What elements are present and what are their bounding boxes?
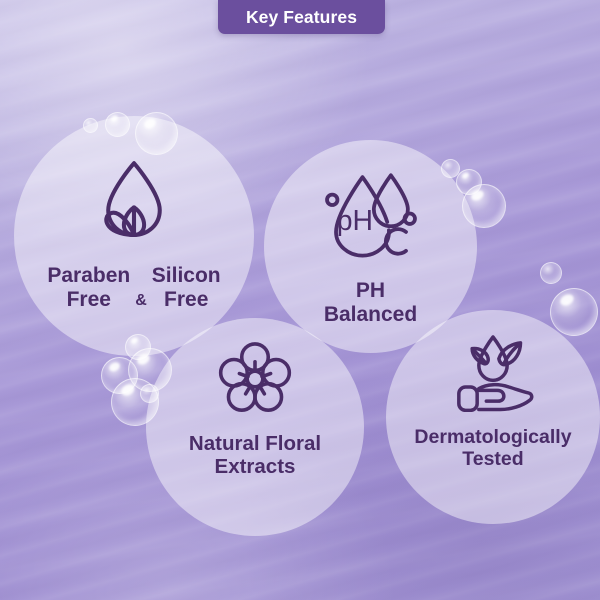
bubble-decoration: [540, 262, 562, 284]
label-free-right: Free: [152, 288, 221, 312]
label-dermatologically: Dermatologically: [414, 426, 571, 448]
feature-card-dermatologically-tested: Dermatologically Tested: [386, 310, 600, 524]
bubble-decoration: [550, 288, 598, 336]
feature-label-dermatologically-tested: Dermatologically Tested: [414, 426, 571, 470]
bubble-decoration: [83, 118, 98, 133]
banner-title: Key Features: [246, 7, 357, 28]
feature-label-paraben-silicon: Paraben Free & Silicon Free: [47, 264, 220, 313]
ph-droplet-icon: pH: [319, 162, 423, 266]
bubble-decoration: [111, 378, 159, 426]
key-features-banner: Key Features: [218, 0, 385, 34]
bubble-decoration: [135, 112, 178, 155]
bubble-decoration: [105, 112, 130, 137]
feature-label-natural-floral: Natural Floral Extracts: [189, 432, 321, 479]
label-column-right: Silicon Free: [152, 264, 221, 313]
feature-card-natural-floral-extracts: Natural Floral Extracts: [146, 318, 364, 536]
label-balanced: Balanced: [324, 303, 417, 327]
label-extracts: Extracts: [189, 455, 321, 478]
svg-text:pH: pH: [336, 205, 372, 237]
label-natural-floral: Natural Floral: [189, 432, 321, 455]
hand-droplet-leaf-icon: [447, 332, 539, 412]
feature-label-ph-balanced: PH Balanced: [324, 279, 417, 327]
label-paraben: Paraben: [47, 264, 130, 288]
label-ampersand: &: [135, 292, 147, 313]
feature-card-paraben-silicon-free: Paraben Free & Silicon Free: [14, 116, 254, 356]
label-column-left: Paraben Free: [47, 264, 130, 313]
label-tested: Tested: [414, 448, 571, 470]
droplet-leaf-icon: [88, 154, 180, 246]
label-ph: PH: [324, 279, 417, 303]
feature-infographic: Key Features Paraben Free & Silicon Free: [0, 0, 600, 600]
flower-icon: [216, 340, 294, 418]
bubble-decoration: [462, 184, 506, 228]
label-silicon: Silicon: [152, 264, 221, 288]
label-free-left: Free: [47, 288, 130, 312]
